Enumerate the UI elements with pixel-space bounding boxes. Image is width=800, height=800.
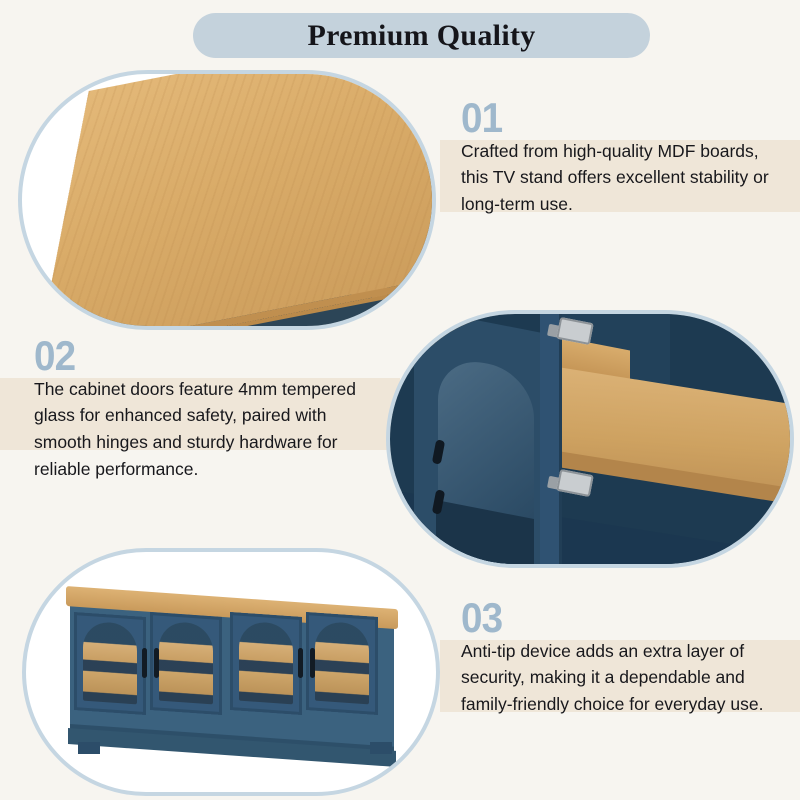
feature-block-02: 02 The cabinet doors feature 4mm tempere…: [34, 336, 364, 482]
arched-glass-door-3: [230, 612, 302, 715]
feature-text-01: Crafted from high-quality MDF boards, th…: [461, 138, 783, 218]
product-photo-open-door: [386, 310, 794, 568]
photo-1-scene: [22, 74, 432, 326]
product-photo-tabletop: [18, 70, 436, 330]
tv-stand-foot-right: [370, 742, 392, 754]
product-photo-full-tv-stand: [22, 548, 440, 796]
arched-glass-door-2: [150, 612, 222, 715]
feature-text-03: Anti-tip device adds an extra layer of s…: [461, 638, 786, 718]
door-handle-3: [298, 648, 303, 678]
feature-number-03: 03: [461, 598, 760, 638]
arch-glass-3: [239, 621, 293, 705]
photo-3-scene: [26, 552, 436, 792]
door-handle-4: [310, 648, 315, 678]
door-stile: [540, 310, 562, 568]
feature-block-03: 03 Anti-tip device adds an extra layer o…: [461, 598, 786, 718]
arch-glass-4: [315, 621, 369, 705]
arch-glass-2: [159, 621, 213, 705]
feature-block-01: 01 Crafted from high-quality MDF boards,…: [461, 98, 783, 218]
feature-number-01: 01: [461, 98, 757, 138]
feature-text-02: The cabinet doors feature 4mm tempered g…: [34, 376, 364, 482]
arched-glass-door-1: [74, 612, 146, 715]
door-handle-1: [142, 648, 147, 678]
arch-glass-1: [83, 621, 137, 705]
arched-glass-door-4: [306, 612, 378, 715]
page-title: Premium Quality: [193, 13, 650, 58]
wood-tabletop-surface: [36, 70, 436, 330]
infographic-page: Premium Quality: [0, 0, 800, 800]
door-handle-2: [154, 648, 159, 678]
feature-number-02: 02: [34, 336, 338, 376]
photo-2-scene: [390, 314, 790, 564]
tv-stand-foot-left: [78, 742, 100, 754]
